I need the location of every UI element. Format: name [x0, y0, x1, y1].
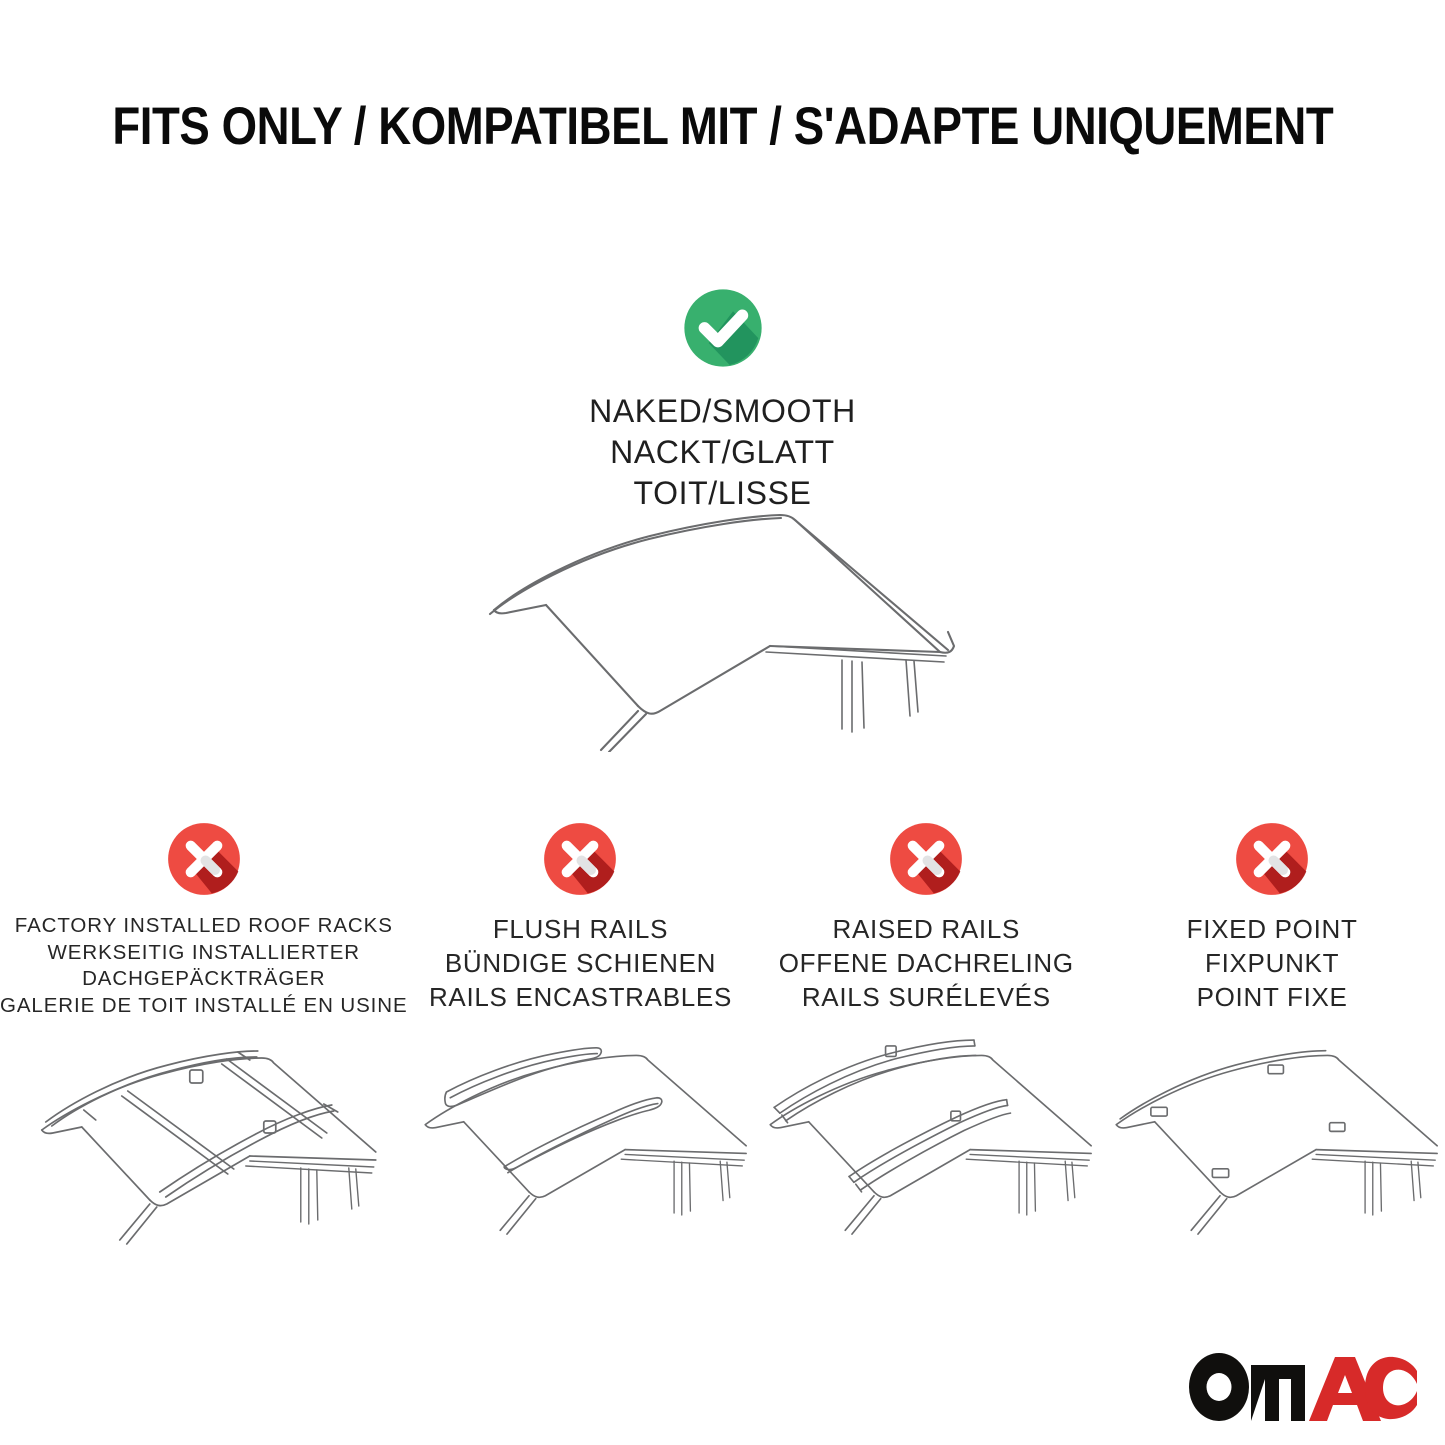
cross-circle-icon [541, 820, 619, 898]
flush-rails-roof-illustration [408, 1028, 754, 1253]
page-title: FITS ONLY / KOMPATIBEL MIT / S'ADAPTE UN… [0, 98, 1445, 156]
naked-smooth-roof-illustration [470, 492, 990, 752]
fixed-point-roof-illustration [1099, 1028, 1445, 1253]
label-line: FACTORY INSTALLED ROOF RACKS [0, 913, 408, 940]
label-line: RAILS ENCASTRABLES [408, 981, 754, 1015]
incompatible-labels: FLUSH RAILS BÜNDIGE SCHIENEN RAILS ENCAS… [408, 913, 754, 1014]
cross-circle-icon [1233, 820, 1311, 898]
raised-rails-roof-illustration [753, 1028, 1099, 1253]
page-title-text: FITS ONLY / KOMPATIBEL MIT / S'ADAPTE UN… [112, 98, 1333, 156]
label-line: DACHGEPÄCKTRÄGER [0, 966, 408, 993]
incompatible-section: FACTORY INSTALLED ROOF RACKS WERKSEITIG … [0, 820, 1445, 1259]
incompatible-item-factory-roof-racks: FACTORY INSTALLED ROOF RACKS WERKSEITIG … [0, 820, 408, 1259]
compatible-label-de: NACKT/GLATT [0, 432, 1445, 473]
label-line: BÜNDIGE SCHIENEN [408, 947, 754, 981]
label-line: RAILS SURÉLEVÉS [753, 981, 1099, 1015]
incompatible-item-fixed-point: FIXED POINT FIXPUNKT POINT FIXE [1099, 820, 1445, 1253]
label-line: WERKSEITIG INSTALLIERTER [0, 940, 408, 967]
incompatible-labels: FACTORY INSTALLED ROOF RACKS WERKSEITIG … [0, 913, 408, 1020]
incompatible-labels: RAISED RAILS OFFENE DACHRELING RAILS SUR… [753, 913, 1099, 1014]
incompatible-item-raised-rails: RAISED RAILS OFFENE DACHRELING RAILS SUR… [753, 820, 1099, 1253]
label-line: OFFENE DACHRELING [753, 947, 1099, 981]
label-line: FIXPUNKT [1099, 947, 1445, 981]
compatible-label-en: NAKED/SMOOTH [0, 391, 1445, 432]
compatible-section: NAKED/SMOOTH NACKT/GLATT TOIT/LISSE [0, 286, 1445, 514]
label-line: GALERIE DE TOIT INSTALLÉ EN USINE [0, 993, 408, 1020]
factory-roof-rack-roof-illustration [0, 1034, 408, 1259]
cross-circle-icon [165, 820, 243, 898]
label-line: RAISED RAILS [753, 913, 1099, 947]
label-line: FIXED POINT [1099, 913, 1445, 947]
cross-circle-icon [887, 820, 965, 898]
incompatible-item-flush-rails: FLUSH RAILS BÜNDIGE SCHIENEN RAILS ENCAS… [408, 820, 754, 1253]
incompatible-labels: FIXED POINT FIXPUNKT POINT FIXE [1099, 913, 1445, 1014]
label-line: FLUSH RAILS [408, 913, 754, 947]
omac-logo [1187, 1351, 1419, 1423]
check-circle-icon [681, 286, 765, 370]
label-line: POINT FIXE [1099, 981, 1445, 1015]
